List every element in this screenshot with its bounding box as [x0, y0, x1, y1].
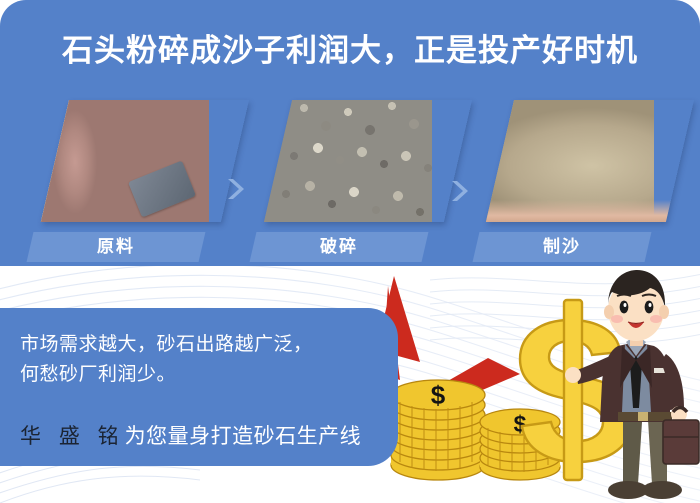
process-label-sand-text: 制沙 [476, 232, 648, 262]
process-label-crush-text: 破碎 [253, 232, 425, 262]
process-label-raw-text: 原料 [30, 232, 202, 262]
copy-line-1: 市场需求越大，砂石出路越广泛， [20, 330, 390, 360]
coin-dollar-symbol: $ [431, 380, 446, 410]
coin-stack-icon: $ [391, 380, 485, 480]
crushed-gravel-photo [264, 100, 432, 222]
hand-palm [486, 200, 694, 222]
chevron-right-icon [448, 178, 474, 204]
process-image-raw [41, 100, 249, 222]
brand-tagline: 为您量身打造砂石生产线 [125, 425, 362, 448]
copy-line-2: 何愁砂厂利润少。 [20, 360, 390, 390]
brand-signature: 华 盛 铭为您量身打造砂石生产线 [20, 420, 361, 450]
process-label-raw: 原料 [27, 232, 206, 262]
process-image-sand [486, 100, 694, 222]
banner-root: 石头粉碎成沙子利润大，正是投产好时机 原料 [0, 0, 700, 503]
process-label-sand: 制沙 [473, 232, 652, 262]
top-hero-content: 石头粉碎成沙子利润大，正是投产好时机 原料 [0, 0, 700, 266]
chevron-right-icon [224, 176, 250, 202]
manufactured-sand-photo [486, 100, 654, 222]
dark-slab-rock [128, 161, 196, 218]
marketing-copy: 市场需求越大，砂石出路越广泛， 何愁砂厂利润少。 [20, 330, 390, 390]
brand-name: 华 盛 铭 [20, 425, 125, 448]
river-pebbles-photo [41, 100, 209, 222]
process-image-crush [264, 100, 472, 222]
process-label-crush: 破碎 [250, 232, 429, 262]
page-title: 石头粉碎成沙子利润大，正是投产好时机 [0, 25, 700, 70]
profit-illustration: $ $ [370, 262, 700, 503]
